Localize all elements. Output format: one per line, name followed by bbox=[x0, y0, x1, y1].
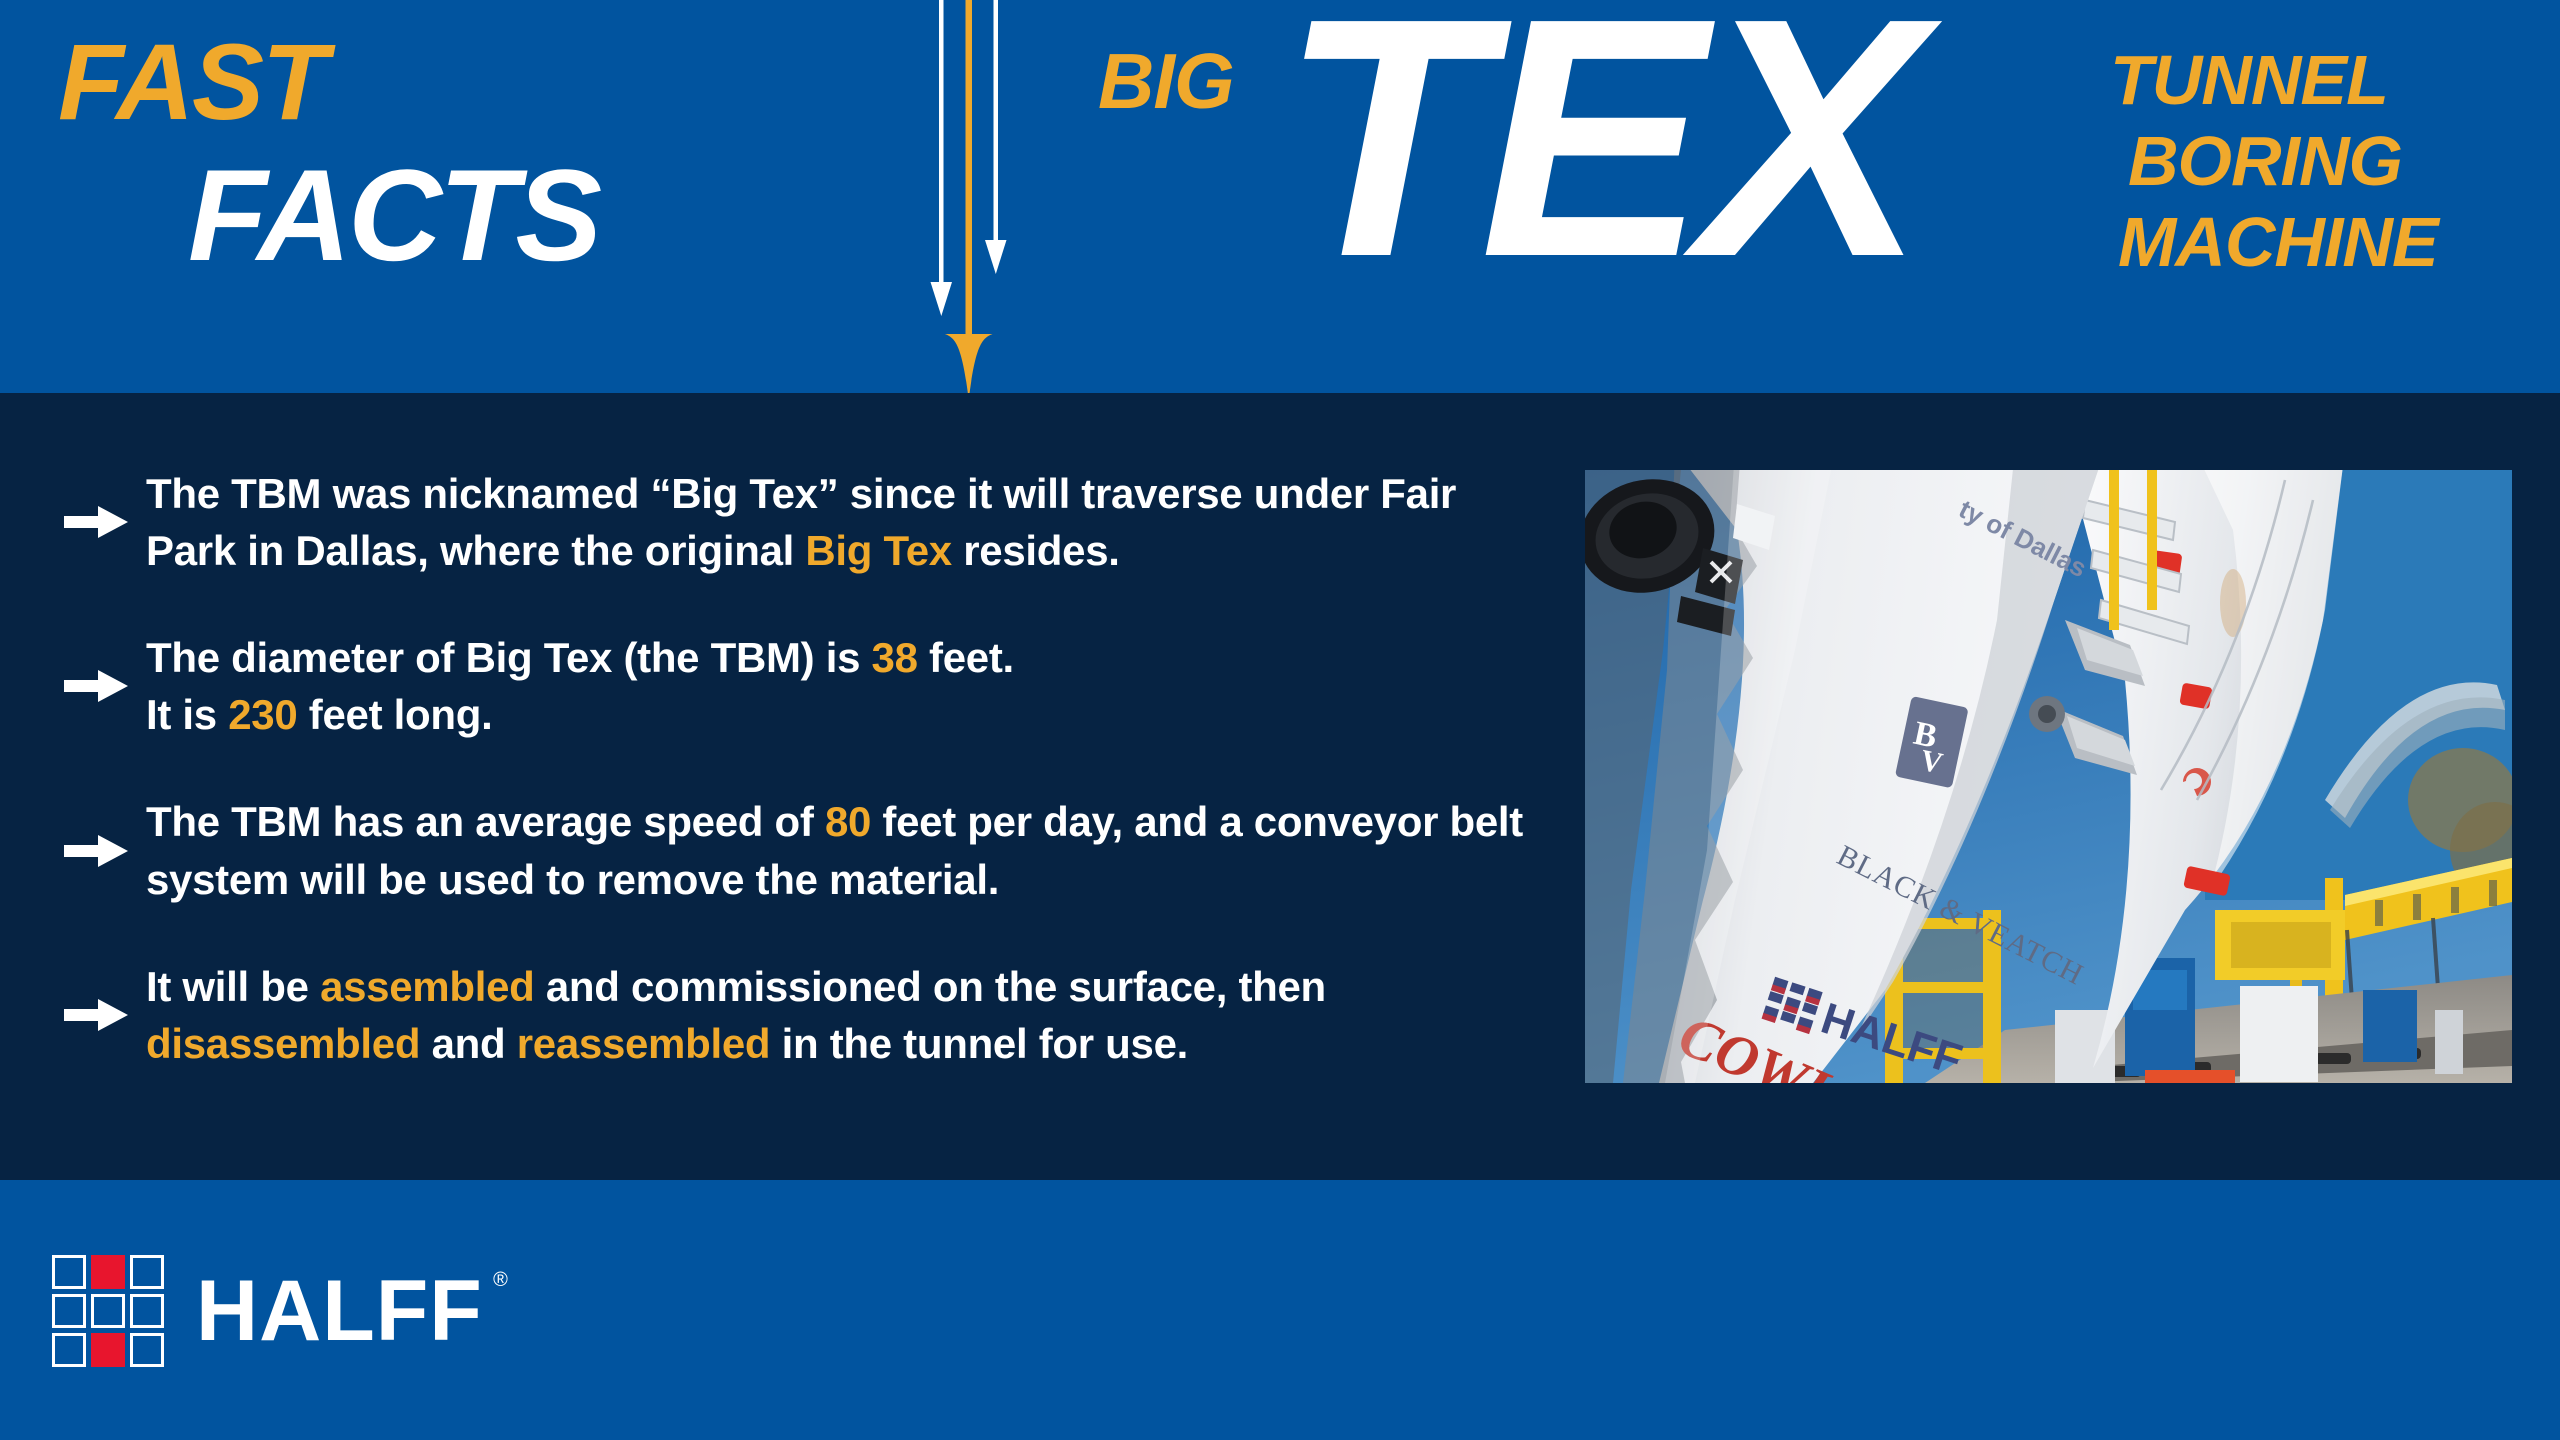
logo-cell bbox=[52, 1255, 86, 1289]
right-arrow-icon bbox=[46, 823, 146, 879]
fact-item: The diameter of Big Tex (the TBM) is 38 … bbox=[46, 629, 1546, 743]
halff-logo[interactable]: HALFF ® bbox=[52, 1255, 483, 1367]
registered-mark-icon: ® bbox=[493, 1270, 509, 1290]
halff-logo-grid-icon bbox=[52, 1255, 164, 1367]
logo-cell bbox=[130, 1294, 164, 1328]
header-big-word: BIG bbox=[1098, 42, 1234, 120]
logo-cell bbox=[91, 1255, 125, 1289]
gold-arrow-center-icon bbox=[945, 0, 993, 400]
footer-bar: HALFF ® bbox=[0, 1180, 2560, 1440]
fact-sentence: feet. bbox=[918, 634, 1014, 681]
logo-cell bbox=[52, 1333, 86, 1367]
fact-text: It will be assembled and commissioned on… bbox=[146, 958, 1546, 1072]
right-arrow-icon bbox=[46, 494, 146, 550]
header-fast-word: FAST bbox=[58, 28, 326, 136]
fact-sentence: resides. bbox=[952, 527, 1120, 574]
highlighted-term: 38 bbox=[872, 634, 918, 681]
right-arrow-icon bbox=[46, 658, 146, 714]
tbm-photo: ty of Dallas B V BLACK & VEATCH bbox=[1585, 470, 2512, 1083]
fact-item: The TBM has an average speed of 80 feet … bbox=[46, 793, 1546, 907]
fact-item: The TBM was nicknamed “Big Tex” since it… bbox=[46, 465, 1546, 579]
fact-text: The TBM was nicknamed “Big Tex” since it… bbox=[146, 465, 1546, 579]
highlighted-term: Big Tex bbox=[805, 527, 951, 574]
fact-sentence: The TBM has an average speed of bbox=[146, 798, 825, 845]
fact-sentence: The diameter of Big Tex (the TBM) is bbox=[146, 634, 872, 681]
fact-sentence: in the tunnel for use. bbox=[770, 1020, 1188, 1067]
header-tex-word: TEX bbox=[1280, 0, 1917, 308]
fact-sentence: and bbox=[420, 1020, 517, 1067]
highlighted-term: disassembled bbox=[146, 1020, 420, 1067]
right-arrow-icon bbox=[46, 987, 146, 1043]
infographic-page: FAST FACTS BIG TEX TUNNEL BORING MACHINE bbox=[0, 0, 2560, 1440]
header-subtitle-line-1: TUNNEL bbox=[2110, 40, 2540, 121]
halff-wordmark-text: HALFF bbox=[196, 1263, 483, 1359]
fact-text: The TBM has an average speed of 80 feet … bbox=[146, 793, 1546, 907]
header-subtitle-line-3: MACHINE bbox=[2110, 202, 2540, 283]
down-arrows-group bbox=[900, 0, 1020, 402]
fact-sentence: and commissioned on the surface, then bbox=[534, 963, 1325, 1010]
fact-text: The diameter of Big Tex (the TBM) is 38 … bbox=[146, 629, 1546, 743]
logo-cell bbox=[52, 1294, 86, 1328]
highlighted-term: 230 bbox=[228, 691, 297, 738]
fact-sentence: It is bbox=[146, 691, 228, 738]
logo-cell bbox=[91, 1294, 125, 1328]
white-arrow-right-icon bbox=[985, 0, 1007, 274]
header-facts-word: FACTS bbox=[188, 150, 599, 280]
highlighted-term: reassembled bbox=[517, 1020, 771, 1067]
facts-body: The TBM was nicknamed “Big Tex” since it… bbox=[0, 393, 2560, 1180]
fact-item: It will be assembled and commissioned on… bbox=[46, 958, 1546, 1072]
header-subtitle: TUNNEL BORING MACHINE bbox=[2110, 40, 2540, 284]
logo-cell bbox=[130, 1333, 164, 1367]
white-arrow-left-icon bbox=[931, 0, 953, 316]
fact-sentence: The TBM was nicknamed “Big Tex” since it… bbox=[146, 470, 1456, 574]
fact-sentence: It will be bbox=[146, 963, 320, 1010]
facts-list: The TBM was nicknamed “Big Tex” since it… bbox=[46, 465, 1546, 1072]
logo-cell bbox=[130, 1255, 164, 1289]
highlighted-term: 80 bbox=[825, 798, 871, 845]
header-subtitle-line-2: BORING bbox=[2110, 121, 2540, 202]
fact-sentence: feet long. bbox=[297, 691, 492, 738]
halff-wordmark: HALFF ® bbox=[196, 1268, 483, 1354]
highlighted-term: assembled bbox=[320, 963, 534, 1010]
header-banner: FAST FACTS BIG TEX TUNNEL BORING MACHINE bbox=[0, 0, 2560, 393]
logo-cell bbox=[91, 1333, 125, 1367]
